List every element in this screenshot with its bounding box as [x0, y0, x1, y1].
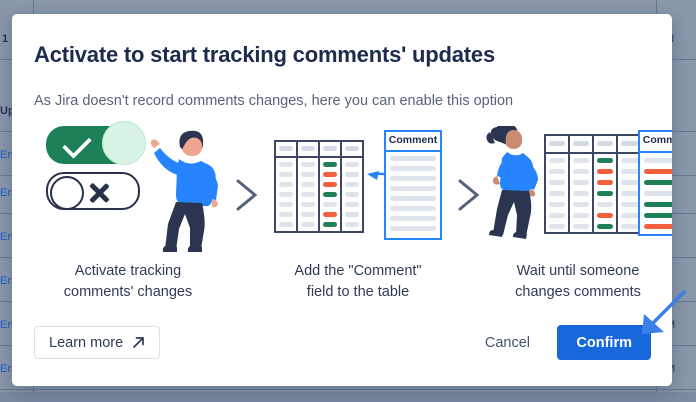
person-standing-illustration [486, 126, 548, 254]
step-2-caption: Add the "Comment" field to the table [250, 261, 466, 303]
background-table-cell: 1 [2, 33, 8, 45]
step-3-caption-line-1: Wait until someone [470, 261, 672, 282]
dialog-subtitle: As Jira doesn't record comments changes,… [34, 93, 513, 109]
table-graphic [274, 140, 364, 233]
comment-column-card: Comment [638, 130, 672, 236]
chevron-right-icon [234, 178, 260, 212]
step-2-caption-line-2: field to the table [250, 282, 466, 303]
step-3-illustration: Comment [480, 118, 672, 258]
steps-row: Activate tracking comments' changes [12, 118, 672, 318]
step-2-caption-line-1: Add the "Comment" [250, 261, 466, 282]
dialog-footer: Learn more Cancel Confirm [12, 312, 672, 386]
step-add-comment-field: Comment Add the "Comment" field to the t… [260, 118, 456, 318]
cross-icon [88, 182, 110, 204]
table-highlight-column [320, 142, 342, 231]
learn-more-label: Learn more [49, 335, 123, 351]
activate-comments-tracking-dialog: Activate to start tracking comments' upd… [12, 14, 672, 386]
table-highlight-column [594, 136, 618, 232]
comment-card-label: Comment [386, 132, 440, 149]
step-3-caption-line-2: changes comments [470, 282, 672, 303]
step-1-caption: Activate tracking comments' changes [20, 261, 236, 303]
step-2-illustration: Comment [260, 118, 456, 258]
toggle-off-knob [50, 176, 84, 210]
step-wait-for-changes: Comment Wait until someone changes comme… [480, 118, 672, 318]
step-1-caption-line-2: comments' changes [20, 282, 236, 303]
step-1-illustration [30, 118, 226, 258]
background-footer-bar [0, 392, 696, 402]
toggle-on-knob [102, 121, 146, 165]
external-link-arrow-icon [132, 336, 145, 349]
step-3-caption: Wait until someone changes comments [470, 261, 672, 303]
comment-column-label: Comment [640, 132, 672, 149]
step-1-caption-line-1: Activate tracking [20, 261, 236, 282]
confirm-button[interactable]: Confirm [557, 325, 651, 360]
chevron-right-icon [456, 178, 482, 212]
comment-field-card: Comment [384, 130, 442, 240]
person-pointing-illustration [142, 120, 226, 256]
dialog-title: Activate to start tracking comments' upd… [34, 42, 495, 68]
step-activate-tracking: Activate tracking comments' changes [30, 118, 226, 318]
learn-more-button[interactable]: Learn more [34, 326, 160, 359]
cancel-button[interactable]: Cancel [473, 326, 542, 359]
